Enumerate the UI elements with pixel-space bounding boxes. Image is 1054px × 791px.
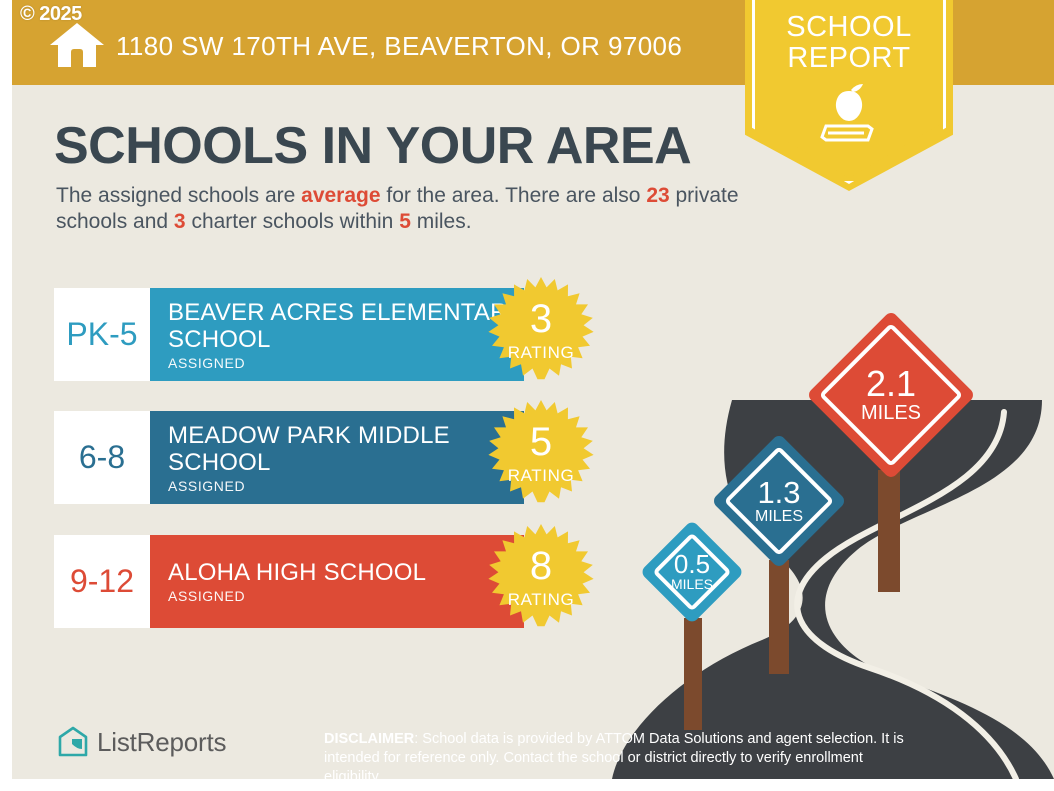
school-rating-value: 3 xyxy=(481,299,601,339)
disclaimer-label: DISCLAIMER xyxy=(324,731,414,747)
apple-icon xyxy=(836,84,863,121)
subtitle-text: The assigned schools are average for the… xyxy=(56,183,756,235)
sign-distance-unit: MILES xyxy=(861,402,921,424)
sign-label: 2.1 MILES xyxy=(806,310,976,480)
school-name: BEAVER ACRES ELEMENTARY SCHOOL xyxy=(168,299,524,353)
sign-distance-unit: MILES xyxy=(671,577,713,592)
school-grade-range: 9-12 xyxy=(54,535,150,628)
badge-title-line1: SCHOOL xyxy=(745,12,953,43)
school-rating-value: 5 xyxy=(481,422,601,462)
school-name: ALOHA HIGH SCHOOL xyxy=(168,559,524,586)
school-rating-burst: 5 RATING xyxy=(481,398,601,518)
school-name-bar: MEADOW PARK MIDDLE SCHOOL ASSIGNED xyxy=(150,411,524,504)
badge-title: SCHOOL REPORT xyxy=(745,12,953,74)
school-grade-range: 6-8 xyxy=(54,411,150,504)
school-assigned-badge: ASSIGNED xyxy=(168,478,524,494)
subtitle-highlight-charter-count: 3 xyxy=(174,210,186,233)
sign-post xyxy=(769,560,789,674)
school-name-bar: ALOHA HIGH SCHOOL ASSIGNED xyxy=(150,535,524,628)
copyright-label: © 2025 xyxy=(20,3,82,25)
listreports-house-icon xyxy=(58,726,88,758)
school-name-bar: BEAVER ACRES ELEMENTARY SCHOOL ASSIGNED xyxy=(150,288,524,381)
page-title: SCHOOLS IN YOUR AREA xyxy=(54,118,691,174)
subtitle-part-2: for the area. There are also xyxy=(381,184,647,207)
subtitle-highlight-average: average xyxy=(301,184,380,207)
school-rating-burst: 3 RATING xyxy=(481,275,601,395)
road-illustration: 0.5 MILES 1.3 MILES xyxy=(612,300,1054,779)
school-rating-label: RATING xyxy=(481,466,601,486)
school-rating-burst: 8 RATING xyxy=(481,522,601,642)
badge-icon-group xyxy=(745,82,953,149)
subtitle-part-4: charter schools within xyxy=(186,210,400,233)
sign-distance-value: 1.3 xyxy=(757,477,800,508)
sign-distance-value: 2.1 xyxy=(866,366,916,402)
sign-distance-unit: MILES xyxy=(755,508,803,526)
sign-post xyxy=(878,470,900,592)
book-icon xyxy=(822,126,872,140)
subtitle-highlight-radius: 5 xyxy=(399,210,411,233)
school-name: MEADOW PARK MIDDLE SCHOOL xyxy=(168,422,524,476)
infographic-canvas: © 2025 1180 SW 170TH AVE, BEAVERTON, OR … xyxy=(12,0,1054,779)
disclaimer-text: DISCLAIMER: School data is provided by A… xyxy=(324,730,924,779)
school-rating-value: 8 xyxy=(481,546,601,586)
sign-distance-value: 0.5 xyxy=(674,551,710,577)
subtitle-part-1: The assigned schools are xyxy=(56,184,301,207)
home-icon xyxy=(48,21,106,69)
school-report-badge: SCHOOL REPORT xyxy=(745,0,953,191)
subtitle-part-5: miles. xyxy=(411,210,472,233)
school-assigned-badge: ASSIGNED xyxy=(168,588,524,604)
school-rating-label: RATING xyxy=(481,343,601,363)
school-assigned-badge: ASSIGNED xyxy=(168,355,524,371)
listreports-logo-text: ListReports xyxy=(97,727,226,758)
badge-title-line2: REPORT xyxy=(745,43,953,74)
subtitle-highlight-private-count: 23 xyxy=(646,184,669,207)
school-report-infographic: © 2025 1180 SW 170TH AVE, BEAVERTON, OR … xyxy=(0,0,1054,791)
property-address: 1180 SW 170TH AVE, BEAVERTON, OR 97006 xyxy=(116,31,682,62)
sign-post xyxy=(684,618,702,730)
school-rating-label: RATING xyxy=(481,590,601,610)
listreports-logo[interactable]: ListReports xyxy=(58,726,226,758)
school-grade-range: PK-5 xyxy=(54,288,150,381)
